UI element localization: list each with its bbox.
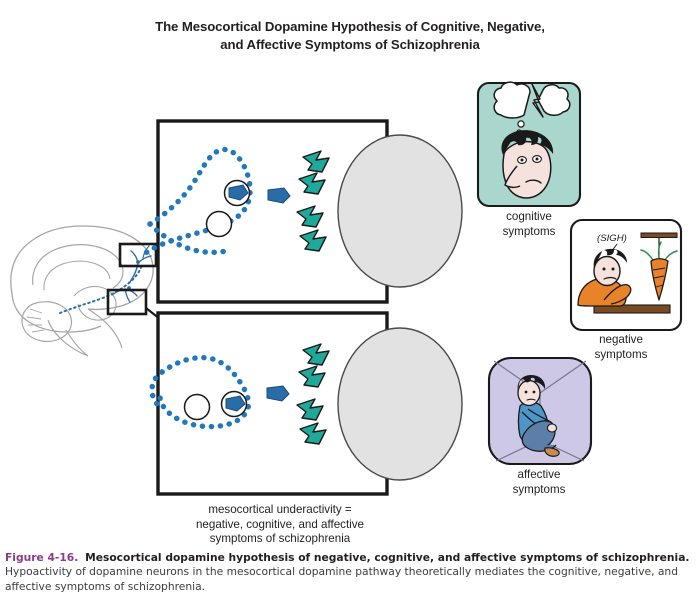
vesicle-empty-upper: [207, 212, 232, 237]
negative-eye-right: [612, 268, 615, 271]
affective-label-line-2: symptoms: [469, 483, 609, 498]
cognitive-symptoms-illustration: [478, 82, 580, 206]
affective-eye-left: [525, 391, 528, 394]
pathway-node-upper: [136, 260, 140, 264]
negative-label-line-1: negative: [551, 333, 691, 348]
mesocortical-underactivity-label: mesocortical underactivity = negative, c…: [155, 503, 405, 547]
figure-root: The Mesocortical Dopamine Hypothesis of …: [0, 0, 699, 608]
pathway-branch-upper-3: [138, 256, 151, 263]
affective-symptoms-illustration: [489, 358, 591, 464]
sigh-annotation: (SIGH): [597, 233, 627, 244]
brain-cortex-outline: [11, 226, 153, 309]
figure-caption-body: Hypoactivity of dopamine neurons in the …: [5, 565, 678, 592]
center-caption-line-2: negative, cognitive, and affective: [155, 518, 405, 533]
synapse-panel-upper: [144, 121, 462, 302]
postsynaptic-neuron-lower: [338, 328, 462, 480]
figure-caption: Figure 4-16. Mesocortical dopamine hypot…: [5, 551, 695, 594]
cerebellum-folia-1: [30, 309, 42, 313]
thought-cloud-left: [494, 82, 530, 118]
affective-symptoms-label: affective symptoms: [469, 468, 609, 497]
cognitive-label-line-2: symptoms: [459, 225, 599, 240]
brain-cortex-lower-outline: [12, 294, 101, 332]
figure-caption-lead: Mesocortical dopamine hypothesis of nega…: [85, 551, 689, 564]
cognitive-face: [503, 142, 551, 198]
cognitive-symptoms-label: cognitive symptoms: [459, 210, 599, 239]
negative-label-line-2: symptoms: [551, 348, 691, 363]
synapse-panel-lower: [152, 313, 462, 494]
affective-eye-right: [533, 391, 536, 394]
figure-number: Figure 4-16.: [5, 551, 78, 564]
postsynaptic-neuron-upper: [338, 135, 462, 287]
center-caption-line-3: symptoms of schizophrenia: [155, 532, 405, 547]
cognitive-pupil-right: [536, 158, 539, 161]
cognitive-pupil-left: [521, 159, 524, 162]
cerebellum-folia-2: [27, 317, 41, 319]
affective-head: [518, 381, 540, 406]
affective-hand: [547, 424, 556, 432]
center-caption-line-1: mesocortical underactivity =: [155, 503, 405, 518]
vesicle-empty-lower: [185, 395, 210, 420]
thought-dot-large: [518, 121, 524, 127]
brainstem-outline: [48, 320, 88, 356]
brain-inner-fold: [44, 261, 110, 290]
negative-head: [594, 257, 620, 286]
cerebellum-folia-4: [32, 330, 44, 332]
brain-corpus-callosum: [33, 245, 123, 288]
affective-label-line-1: affective: [469, 468, 609, 483]
cognitive-label-line-1: cognitive: [459, 210, 599, 225]
negative-symptoms-label: negative symptoms: [551, 333, 691, 362]
negative-eye-left: [603, 268, 606, 271]
carrot-support-bar: [641, 233, 677, 238]
